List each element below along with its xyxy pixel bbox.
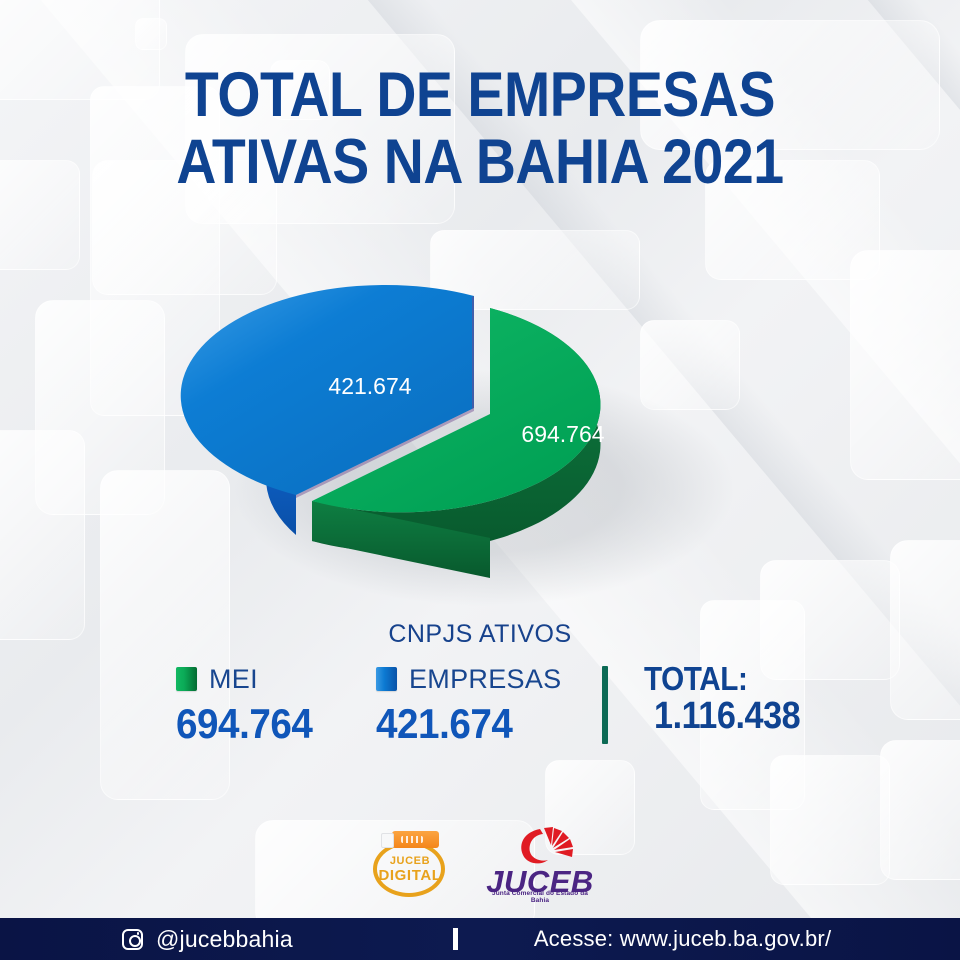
instagram-icon: [122, 929, 143, 950]
legend-value-mei: 694.764: [176, 700, 360, 748]
total-block: TOTAL: 1.116.438: [644, 662, 816, 737]
pie-chart: 694.764 421.674: [228, 288, 744, 600]
legend: MEI 694.764 EMPRESAS 421.674 TOTAL: 1.11…: [0, 662, 960, 748]
legend-item-mei: MEI 694.764: [176, 662, 376, 748]
legend-label-empresas: EMPRESAS: [409, 664, 561, 695]
usb-drive-icon: [392, 831, 439, 848]
infographic-poster: TOTAL DE EMPRESAS ATIVAS NA BAHIA 2021: [0, 0, 960, 960]
slice-label-mei: 694.764: [521, 421, 604, 447]
logo-row: JUCEB DIGITAL JUCEB Junta Comercial do E…: [0, 822, 960, 904]
legend-item-empresas: EMPRESAS 421.674: [376, 662, 594, 748]
juceb-digital-logo: JUCEB DIGITAL: [366, 827, 454, 899]
juceb-digital-line-1: JUCEB: [366, 855, 454, 867]
legend-heading: CNPJS ATIVOS: [0, 620, 960, 649]
legend-value-empresas: 421.674: [376, 700, 577, 748]
website-url[interactable]: Acesse: www.juceb.ba.gov.br/: [534, 926, 831, 952]
total-value: 1.116.438: [654, 696, 800, 738]
juceb-logo: JUCEB Junta Comercial do Estado da Bahia: [486, 826, 594, 900]
total-label: TOTAL:: [644, 662, 799, 696]
instagram-block[interactable]: @jucebbahia: [122, 926, 293, 953]
juceb-digital-line-2: DIGITAL: [366, 867, 454, 884]
legend-label-mei: MEI: [209, 664, 258, 695]
legend-divider: [602, 666, 608, 744]
instagram-handle: @jucebbahia: [156, 926, 293, 953]
footer-bar: @jucebbahia Acesse: www.juceb.ba.gov.br/: [0, 918, 960, 960]
juceb-swirl-icon: [504, 826, 578, 868]
legend-swatch-mei-icon: [176, 667, 197, 691]
page-title: TOTAL DE EMPRESAS ATIVAS NA BAHIA 2021: [0, 62, 960, 196]
legend-swatch-empresas-icon: [376, 667, 397, 691]
juceb-tagline: Junta Comercial do Estado da Bahia: [486, 890, 594, 904]
title-line-2: ATIVAS NA BAHIA 2021: [58, 129, 903, 196]
slice-label-empresas: 421.674: [328, 373, 411, 399]
footer-divider: [453, 928, 458, 950]
title-line-1: TOTAL DE EMPRESAS: [58, 62, 903, 129]
